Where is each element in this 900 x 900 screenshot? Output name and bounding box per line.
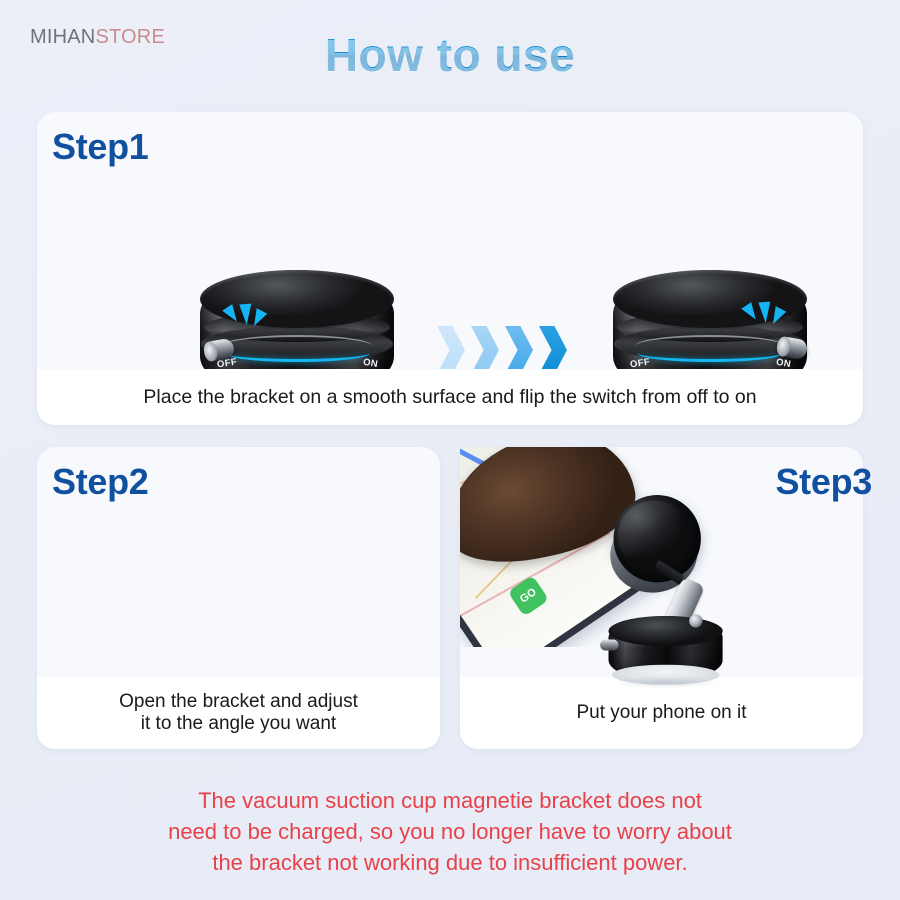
side-switch-knob[interactable] (600, 640, 618, 651)
step2-caption-line2: it to the angle you want (119, 713, 358, 735)
footer-note-line1: The vacuum suction cup magnetie bracket … (0, 785, 900, 816)
step2-caption-line1: Open the bracket and adjust (119, 691, 358, 713)
chevron-right-icon (539, 326, 567, 374)
bracket-base-top (608, 616, 722, 646)
folding-bracket-with-phone (590, 490, 758, 692)
switch-glow-line (637, 344, 783, 362)
chevron-right-icon (505, 326, 533, 374)
chevron-right-icon (471, 326, 499, 374)
step2-label: Step2 (52, 461, 149, 503)
footer-note-line2: need to be charged, so you no longer hav… (0, 816, 900, 847)
switch-glow-line (224, 344, 370, 362)
step1-label: Step1 (52, 126, 149, 168)
spark-burst-icon (743, 302, 787, 338)
drop-shadow (612, 676, 720, 688)
footer-note-line3: the bracket not working due to insuffici… (0, 847, 900, 878)
step2-caption: Open the bracket and adjust it to the an… (37, 677, 440, 749)
hinge-screw (689, 614, 702, 627)
page-title: How to use (0, 28, 900, 82)
step1-card: OFF ON OFF ON Place the bracket on a s (37, 112, 863, 425)
footer-note: The vacuum suction cup magnetie bracket … (0, 785, 900, 879)
product-infographic: MIHANSTORE How to use OFF ON (0, 0, 900, 900)
step1-caption: Place the bracket on a smooth surface an… (37, 369, 863, 425)
transition-arrows (437, 326, 567, 374)
step3-label: Step3 (775, 461, 872, 503)
spark-burst-icon (224, 304, 268, 340)
chevron-right-icon (437, 326, 465, 374)
